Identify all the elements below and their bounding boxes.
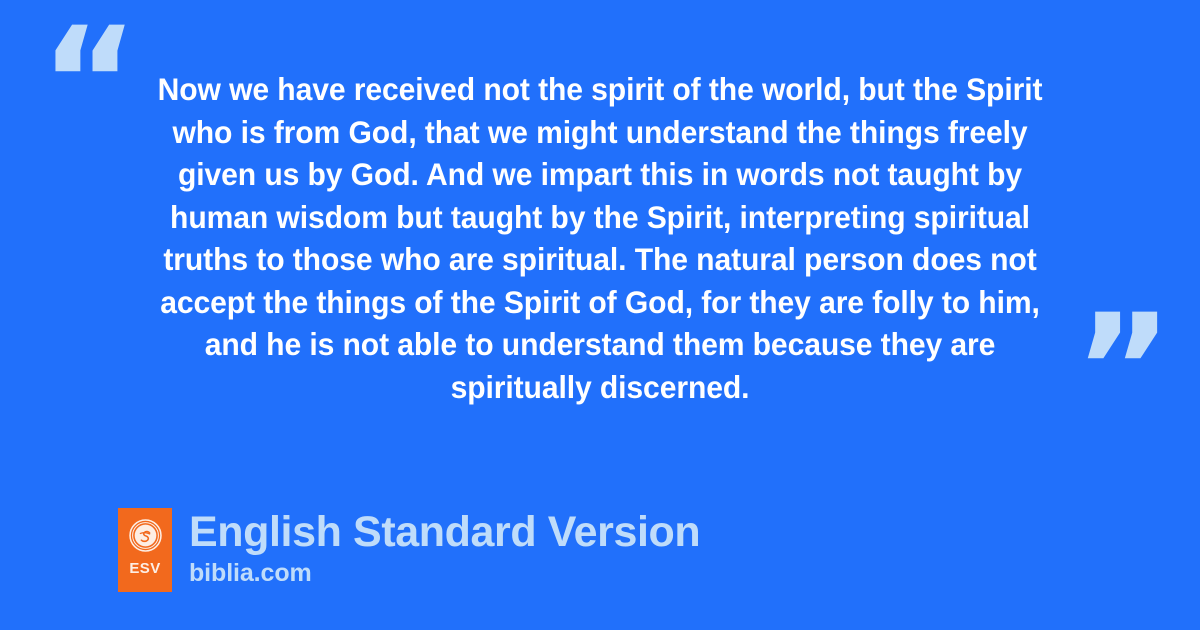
esv-seal-icon [129, 519, 162, 552]
attribution-text: English Standard Version biblia.com [189, 508, 700, 588]
opening-quote-icon: “ [40, 8, 137, 158]
attribution: ESV English Standard Version biblia.com [118, 508, 700, 592]
closing-quote-icon: ” [1074, 295, 1171, 445]
quote-card: “ Now we have received not the spirit of… [0, 0, 1200, 630]
esv-logo: ESV [118, 508, 172, 592]
quote-text: Now we have received not the spirit of t… [142, 68, 1059, 408]
esv-logo-label: ESV [129, 561, 160, 576]
site-url[interactable]: biblia.com [189, 558, 700, 588]
bible-version-name: English Standard Version [189, 509, 700, 556]
